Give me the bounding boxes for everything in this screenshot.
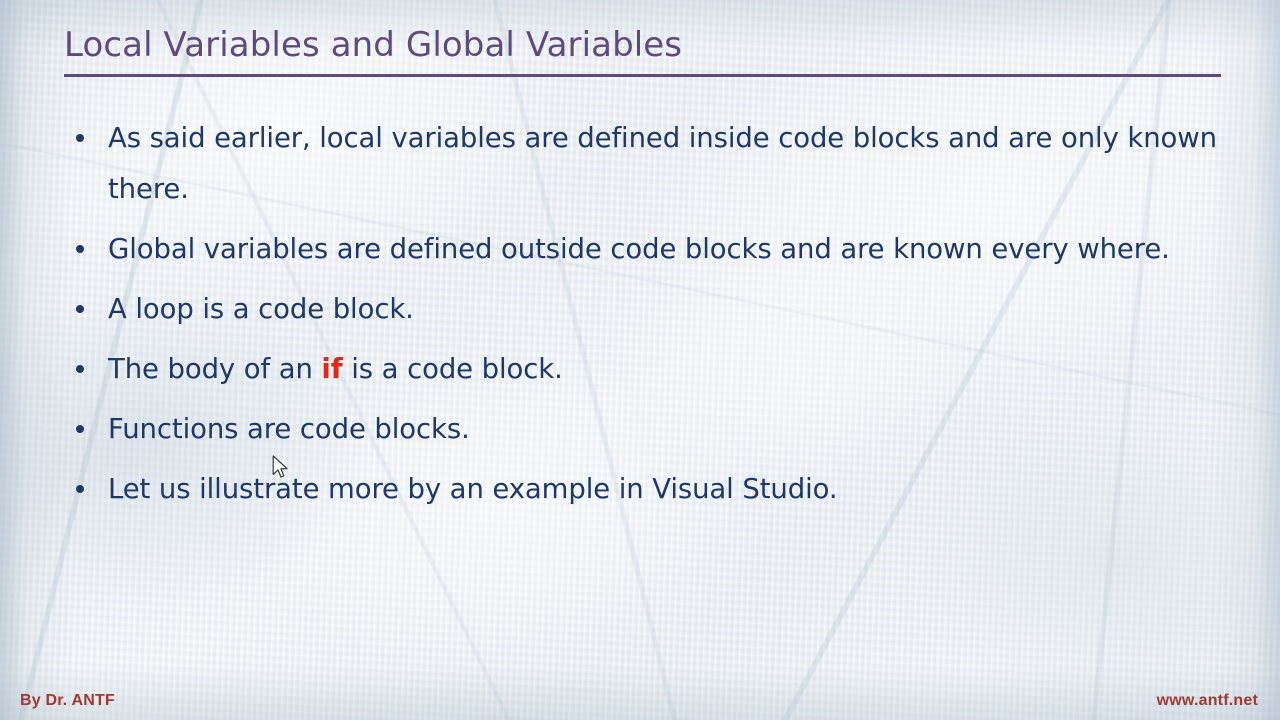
bullet-item: Let us illustrate more by an example in …	[64, 464, 1229, 515]
bullet-text-run: Global variables are defined outside cod…	[108, 233, 1170, 265]
bullet-dot-icon	[76, 425, 84, 433]
footer-website: www.antf.net	[1157, 692, 1258, 710]
title-divider-rule	[64, 74, 1221, 77]
bullet-item: Functions are code blocks.	[64, 404, 1229, 455]
bullet-text: The body of an if is a code block.	[108, 353, 563, 385]
bullet-item: Global variables are defined outside cod…	[64, 224, 1229, 275]
title-area: Local Variables and Global Variables	[64, 22, 1222, 68]
bullet-list: As said earlier, local variables are def…	[64, 113, 1229, 524]
bullet-text: A loop is a code block.	[108, 293, 414, 325]
footer-author: By Dr. ANTF	[20, 692, 115, 710]
bullet-item: A loop is a code block.	[64, 284, 1229, 335]
bullet-text: Functions are code blocks.	[108, 413, 470, 445]
bullet-dot-icon	[76, 485, 84, 493]
bullet-dot-icon	[76, 305, 84, 313]
keyword-if: if	[321, 353, 342, 385]
bullet-text: Let us illustrate more by an example in …	[108, 473, 838, 505]
bullet-text-run: A loop is a code block.	[108, 293, 414, 325]
bullet-text-run: Functions are code blocks.	[108, 413, 470, 445]
bullet-text-run: Let us illustrate more by an example in …	[108, 473, 838, 505]
bullet-text-run: As said earlier, local variables are def…	[108, 122, 1217, 205]
bullet-dot-icon	[76, 365, 84, 373]
bullet-text-run: is a code block.	[343, 353, 563, 385]
bullet-item: The body of an if is a code block.	[64, 344, 1229, 395]
presentation-slide: Local Variables and Global Variables As …	[0, 0, 1280, 720]
bullet-text: Global variables are defined outside cod…	[108, 233, 1170, 265]
bullet-dot-icon	[76, 245, 84, 253]
bullet-text-run: The body of an	[108, 353, 321, 385]
bullet-item: As said earlier, local variables are def…	[64, 113, 1229, 215]
page-title: Local Variables and Global Variables	[64, 22, 1222, 68]
bullet-dot-icon	[76, 134, 84, 142]
bullet-text: As said earlier, local variables are def…	[108, 122, 1217, 205]
